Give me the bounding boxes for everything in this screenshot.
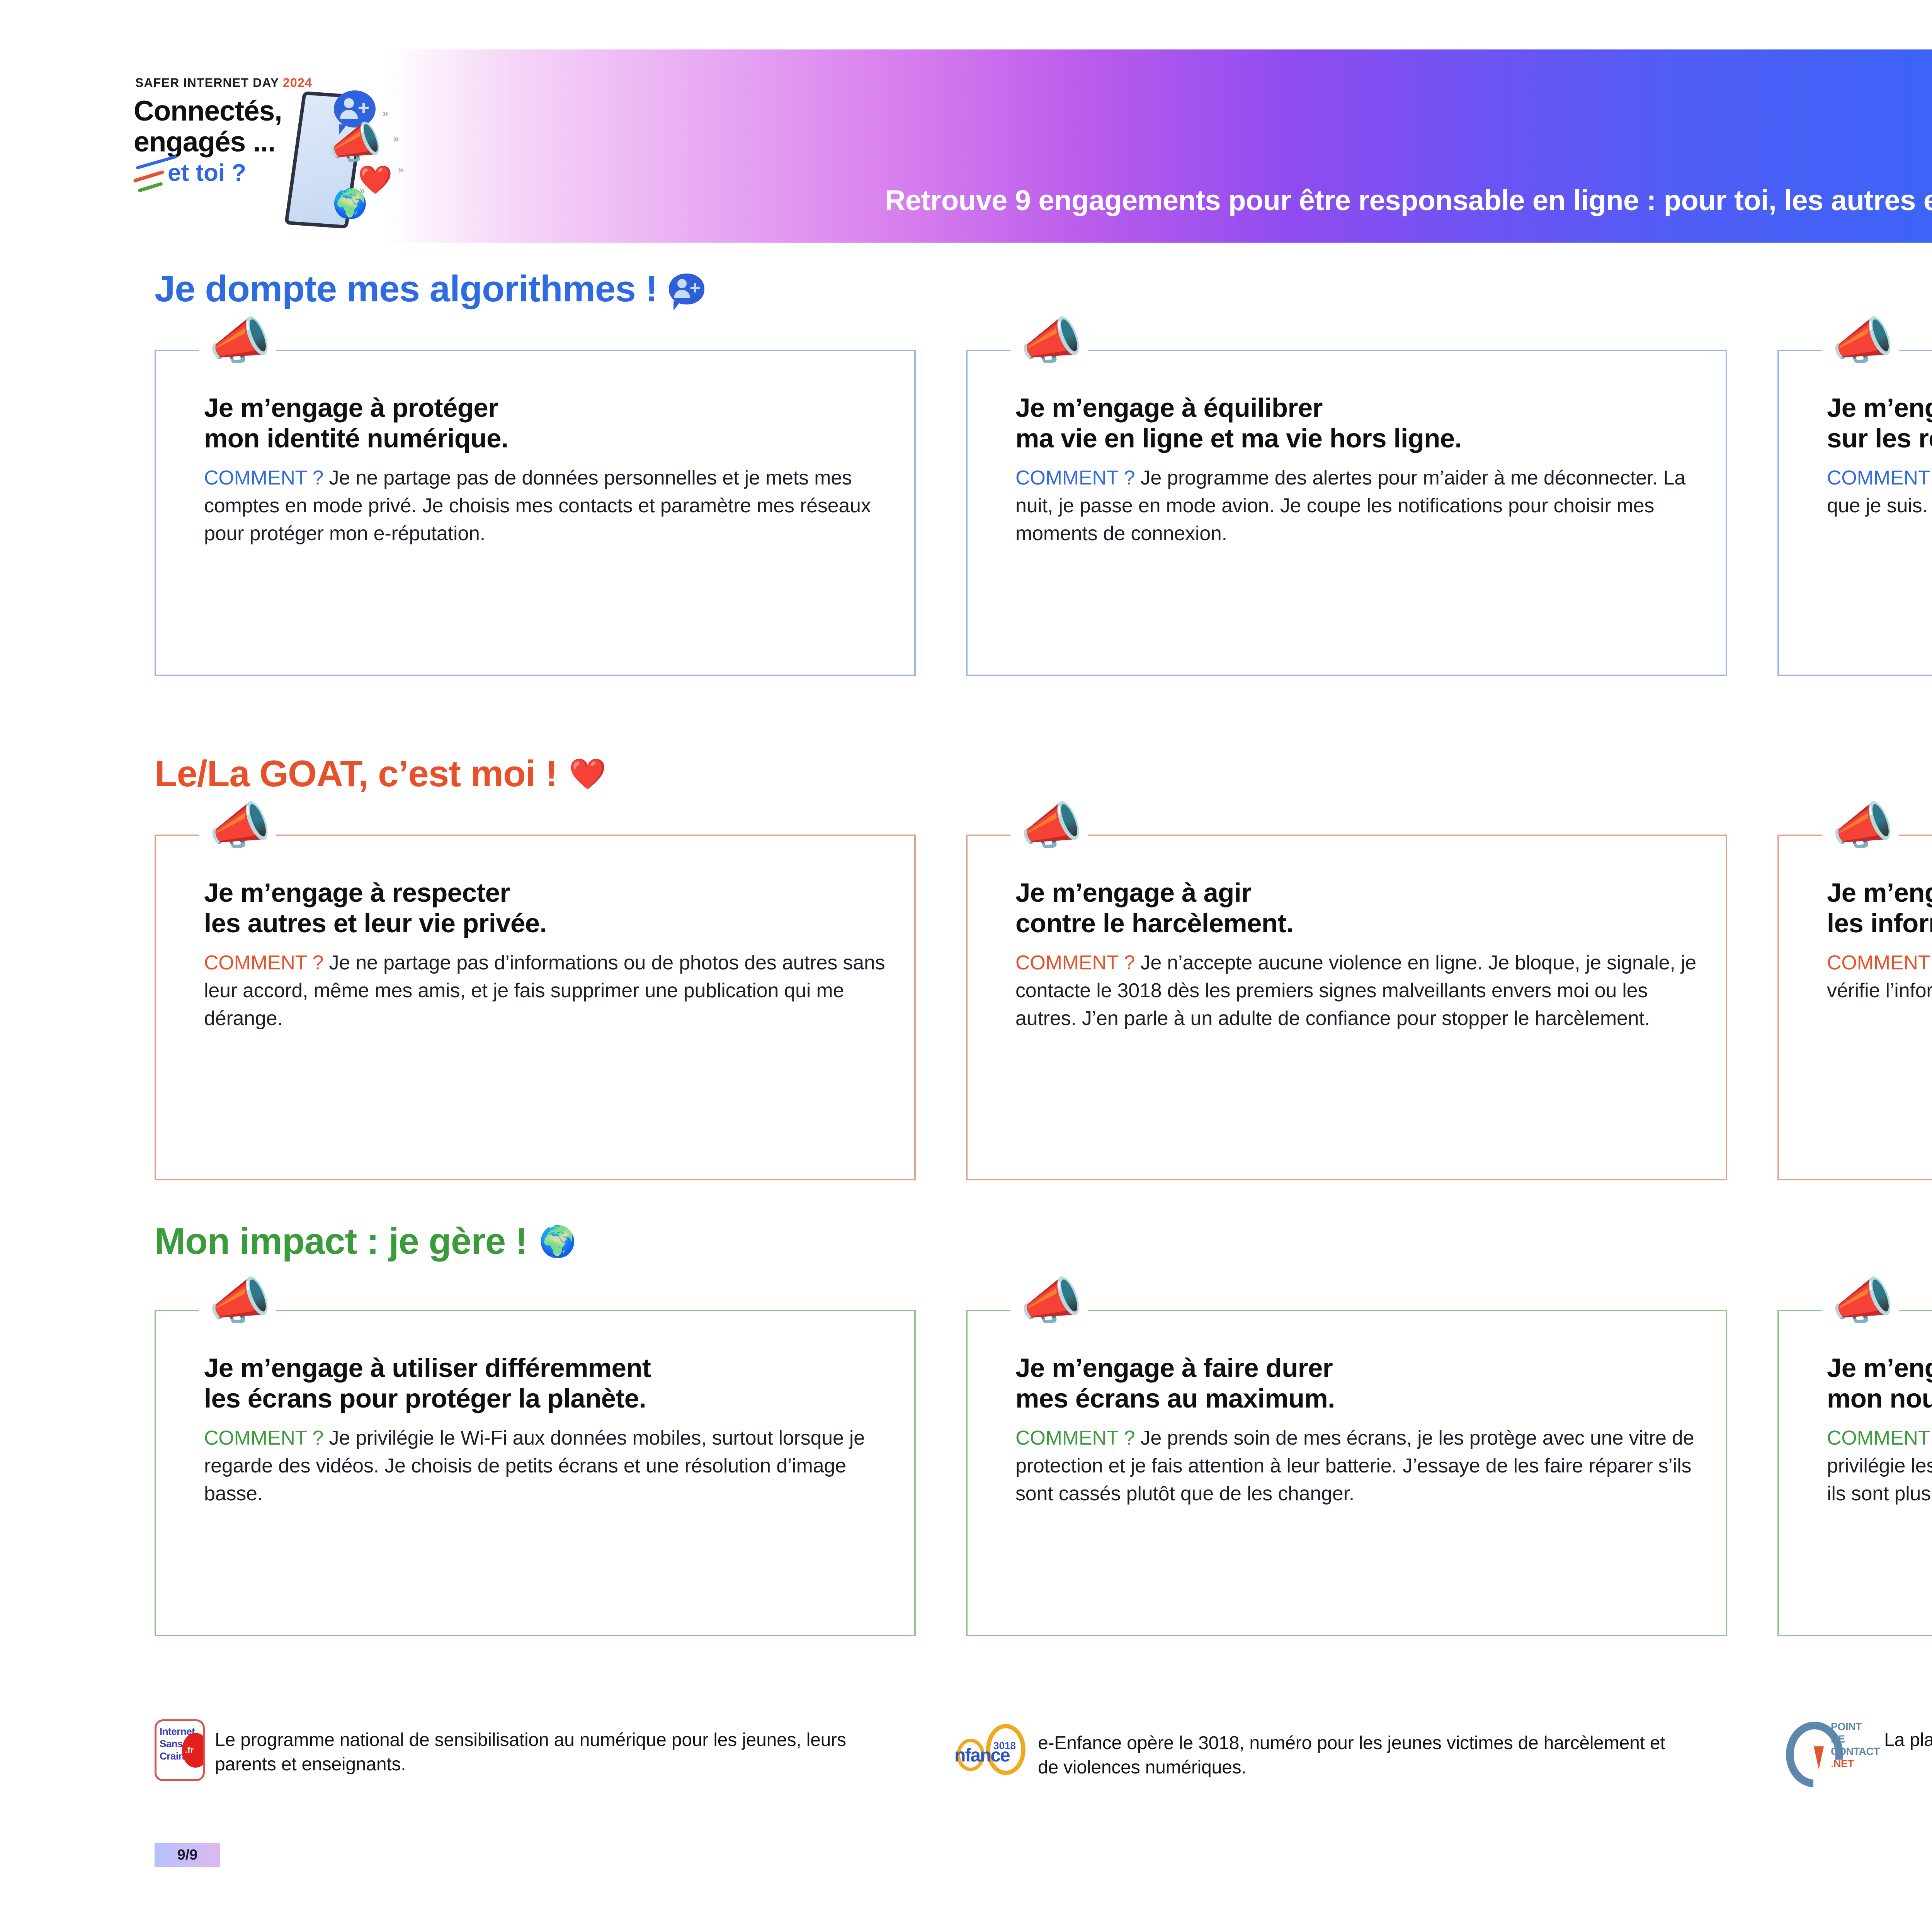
card-heading-line1: Je m’engage à surfer	[1827, 393, 1932, 423]
section-title: Mon impact : je gère !	[155, 1223, 527, 1260]
pdc-line4: .NET	[1831, 1758, 1879, 1770]
megaphone-icon: 📣	[1832, 801, 1894, 851]
card-heading-line2: les écrans pour protéger la planète.	[204, 1384, 646, 1413]
safer-internet-day-logo: SAFER INTERNET DAY 2024 Connectés, engag…	[128, 65, 421, 227]
engagement-card: 📣Je m’engage à agircontre le harcèlement…	[966, 835, 1727, 1180]
megaphone-icon: 📣	[209, 316, 271, 366]
footer: Internet Sans Crainte .fr Le programme n…	[0, 1712, 1932, 1835]
megaphone-icon: 📣	[209, 801, 271, 851]
logo-sparkle-2: »	[393, 133, 399, 145]
logo-top-label: SAFER INTERNET DAY 2024	[135, 76, 312, 90]
internet-sans-crainte-logo: Internet Sans Crainte .fr	[155, 1719, 205, 1781]
pdc-line3: CONTACT	[1831, 1746, 1879, 1758]
engagement-card: 📣Je m’engage à vérifierles informations …	[1777, 835, 1932, 1180]
card-heading-line1: Je m’engage à équilibrer	[1015, 393, 1323, 423]
megaphone-icon: 📣	[1020, 801, 1083, 851]
logo-sparkle-1: »	[383, 107, 388, 119]
card-heading: Je m’engage à équilibrerma vie en ligne …	[1015, 393, 1700, 454]
section-title: Je dompte mes algorithmes !	[155, 270, 657, 308]
card-heading-line2: contre le harcèlement.	[1015, 908, 1293, 938]
footer-text-isc: Le programme national de sensibilisation…	[215, 1719, 889, 1777]
engagement-card: 📣Je m’engage à bien choisirmon nouvel éc…	[1777, 1310, 1932, 1636]
logo-bubble-plus-v	[362, 103, 365, 113]
engagement-card: 📣Je m’engage à surfersur les réseaux ave…	[1777, 350, 1932, 676]
card-heading-line1: Je m’engage à vérifier	[1827, 878, 1932, 908]
card-heading: Je m’engage à utiliser différemmentles é…	[204, 1353, 889, 1414]
footer-text-pointdecontact: La plateforme de signalement anonyme des…	[1884, 1719, 1932, 1752]
card-body: COMMENT ? Je m’informe sur des sites off…	[1827, 949, 1932, 1005]
section-header-3: Mon impact : je gère !🌍	[155, 1223, 577, 1260]
card-heading-line1: Je m’engage à bien choisir	[1827, 1353, 1932, 1383]
logo-line3: et toi ?	[168, 159, 246, 187]
card-how-label: COMMENT ?	[204, 1427, 329, 1449]
card-how-label: COMMENT ?	[1015, 952, 1141, 974]
logo-bubble-head	[344, 98, 354, 108]
pdc-line1: POINT	[1831, 1721, 1879, 1733]
card-body: COMMENT ? Je prends soin de mes écrans, …	[1015, 1425, 1700, 1508]
card-how-label: COMMENT ?	[1827, 952, 1932, 974]
engagement-card: 📣Je m’engage à faire durermes écrans au …	[966, 1310, 1727, 1636]
logo-bubble-body	[340, 110, 358, 119]
megaphone-icon: 📣	[1832, 316, 1894, 366]
card-content: Je m’engage à utiliser différemmentles é…	[204, 1353, 889, 1508]
logo-line1: Connectés,	[134, 95, 282, 127]
card-heading: Je m’engage à protégermon identité numér…	[204, 393, 889, 454]
enfance-wordmark: nfance	[954, 1745, 1010, 1766]
add-person-bubble-icon	[669, 274, 704, 304]
card-how-label: COMMENT ?	[1827, 1427, 1932, 1449]
card-heading-line2: mon nouvel écran.	[1827, 1384, 1932, 1413]
card-how-label: COMMENT ?	[204, 467, 329, 489]
logo-dash-green	[138, 182, 163, 193]
card-heading-line2: les autres et leur vie privée.	[204, 908, 547, 938]
engagement-card: 📣Je m’engage à utiliser différemmentles …	[155, 1310, 916, 1636]
card-how-label: COMMENT ?	[204, 952, 329, 974]
section-header-2: Le/La GOAT, c’est moi !❤️	[155, 755, 606, 792]
logo-year: 2024	[283, 76, 312, 90]
card-heading-line1: Je m’engage à utiliser différemment	[204, 1353, 651, 1383]
section-title: Le/La GOAT, c’est moi !	[155, 755, 557, 792]
card-content: Je m’engage à vérifierles informations e…	[1827, 878, 1932, 1005]
card-heading-line2: mes écrans au maximum.	[1015, 1384, 1335, 1413]
card-body: COMMENT ? Je ne partage pas de données p…	[204, 464, 889, 547]
card-content: Je m’engage à protégermon identité numér…	[204, 393, 889, 548]
card-content: Je m’engage à faire durermes écrans au m…	[1015, 1353, 1700, 1508]
point-de-contact-logo: POINT DE CONTACT .NET	[1785, 1719, 1874, 1777]
card-body: COMMENT ? Je n’accepte aucune violence e…	[1015, 949, 1700, 1032]
megaphone-icon: 📣	[209, 1276, 271, 1326]
bubble-plus-v	[694, 283, 696, 292]
bubble-body	[674, 290, 690, 298]
footer-item-pointdecontact: POINT DE CONTACT .NET La plateforme de s…	[1785, 1719, 1932, 1777]
logo-sparkle-3: »	[398, 164, 403, 176]
page-number-badge: 9/9	[155, 1843, 220, 1867]
card-heading-line2: ma vie en ligne et ma vie hors ligne.	[1015, 423, 1462, 453]
footer-item-isc: Internet Sans Crainte .fr Le programme n…	[155, 1719, 889, 1781]
e-enfance-3018-logo: 3018 nfance	[954, 1722, 1028, 1780]
heart-icon: ❤️	[569, 759, 606, 789]
section-header-1: Je dompte mes algorithmes !	[155, 270, 704, 308]
card-heading-line2: les informations en ligne.	[1827, 908, 1932, 938]
engagement-card: 📣Je m’engage à respecterles autres et le…	[155, 835, 916, 1180]
card-heading-line1: Je m’engage à respecter	[204, 878, 510, 908]
card-heading: Je m’engage à surfersur les réseaux avec…	[1827, 393, 1932, 454]
card-heading-line2: mon identité numérique.	[204, 423, 508, 453]
logo-dash-orange	[133, 170, 164, 183]
card-heading-line2: sur les réseaux avec vigilance !	[1827, 423, 1932, 453]
card-content: Je m’engage à équilibrerma vie en ligne …	[1015, 393, 1700, 548]
engagement-card: 📣Je m’engage à protégermon identité numé…	[155, 350, 916, 676]
header-banner: Retrouve 9 engagements pour être respons…	[386, 49, 1932, 243]
card-heading-line1: Je m’engage à protéger	[204, 393, 498, 423]
megaphone-icon: 📣	[1020, 316, 1083, 366]
logo-top-text: SAFER INTERNET DAY	[135, 76, 279, 90]
globe-icon: 🌍	[539, 1226, 577, 1256]
card-heading-line1: Je m’engage à agir	[1015, 878, 1251, 908]
card-heading-line1: Je m’engage à faire durer	[1015, 1353, 1333, 1383]
card-body: COMMENT ? Je ne partage pas d’informatio…	[204, 949, 889, 1032]
logo-line2: engagés ...	[134, 126, 275, 158]
logo-megaphone-icon: 📣	[328, 121, 382, 165]
card-how-label: COMMENT ?	[1015, 467, 1141, 489]
pdc-line2: DE	[1831, 1733, 1879, 1746]
megaphone-icon: 📣	[1832, 1276, 1894, 1326]
card-content: Je m’engage à bien choisirmon nouvel écr…	[1827, 1353, 1932, 1508]
megaphone-icon: 📣	[1020, 1276, 1083, 1326]
card-heading: Je m’engage à vérifierles informations e…	[1827, 878, 1932, 938]
card-body: COMMENT ? Je privilégie le Wi-Fi aux don…	[204, 1425, 889, 1508]
card-heading: Je m’engage à bien choisirmon nouvel écr…	[1827, 1353, 1932, 1414]
footer-item-enfance: 3018 nfance e-Enfance opère le 3018, num…	[954, 1722, 1689, 1780]
footer-text-enfance: e-Enfance opère le 3018, numéro pour les…	[1038, 1722, 1689, 1780]
card-how-label: COMMENT ?	[1015, 1427, 1141, 1449]
banner-title: Retrouve 9 engagements pour être respons…	[885, 184, 1932, 217]
card-heading: Je m’engage à faire durermes écrans au m…	[1015, 1353, 1700, 1414]
card-body: COMMENT ? Je programme des alertes pour …	[1015, 464, 1700, 547]
card-heading: Je m’engage à agircontre le harcèlement.	[1015, 878, 1700, 938]
card-how-label: COMMENT ?	[1827, 467, 1932, 489]
isc-badge-text: .fr	[185, 1745, 194, 1755]
engagement-card: 📣Je m’engage à équilibrerma vie en ligne…	[966, 350, 1727, 676]
card-heading: Je m’engage à respecterles autres et leu…	[204, 878, 889, 938]
card-content: Je m’engage à respecterles autres et leu…	[204, 878, 889, 1033]
bubble-head	[677, 279, 687, 288]
logo-sparkle-4: »	[359, 185, 365, 197]
card-content: Je m’engage à agircontre le harcèlement.…	[1015, 878, 1700, 1033]
card-body: COMMENT ? Je fais attention à ce que je …	[1827, 464, 1932, 520]
card-body: COMMENT ? Après avoir vendu, donné ou re…	[1827, 1425, 1932, 1508]
card-content: Je m’engage à surfersur les réseaux avec…	[1827, 393, 1932, 520]
isc-line1: Internet	[160, 1725, 192, 1737]
